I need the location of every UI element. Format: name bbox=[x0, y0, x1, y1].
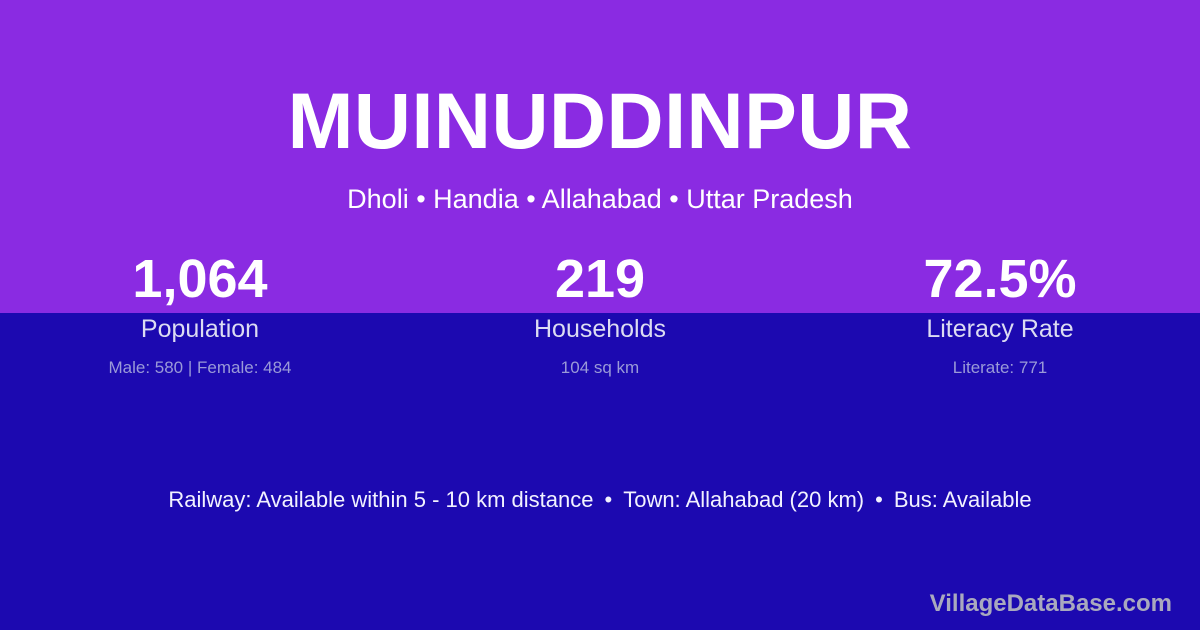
village-info-card: MUINUDDINPUR Dholi • Handia • Allahabad … bbox=[0, 0, 1200, 630]
stat-households-sub: 104 sq km bbox=[400, 356, 800, 380]
amenity-separator-1: • bbox=[594, 486, 624, 515]
amenity-railway: Railway: Available within 5 - 10 km dist… bbox=[168, 487, 593, 512]
amenity-town: Town: Allahabad (20 km) bbox=[623, 487, 864, 512]
page-title: MUINUDDINPUR bbox=[0, 80, 1200, 163]
stat-population-value: 1,064 bbox=[0, 248, 400, 311]
site-brand: VillageDataBase.com bbox=[930, 590, 1172, 619]
stat-literacy-rate-label: Literacy Rate bbox=[800, 313, 1200, 347]
amenity-separator-2: • bbox=[864, 486, 894, 515]
stat-population-label: Population bbox=[0, 313, 400, 347]
stat-households: 219 Households 104 sq km bbox=[400, 248, 800, 380]
stat-households-label: Households bbox=[400, 313, 800, 347]
amenity-bus: Bus: Available bbox=[894, 487, 1032, 512]
stat-literacy-rate: 72.5% Literacy Rate Literate: 771 bbox=[800, 248, 1200, 380]
stat-literacy-rate-value: 72.5% bbox=[800, 248, 1200, 311]
stat-population-sub: Male: 580 | Female: 484 bbox=[0, 356, 400, 380]
stats-row: 1,064 Population Male: 580 | Female: 484… bbox=[0, 248, 1200, 380]
breadcrumb: Dholi • Handia • Allahabad • Uttar Prade… bbox=[0, 183, 1200, 215]
stat-households-value: 219 bbox=[400, 248, 800, 311]
stat-literacy-rate-sub: Literate: 771 bbox=[800, 356, 1200, 380]
amenities-line: Railway: Available within 5 - 10 km dist… bbox=[0, 486, 1200, 515]
stat-population: 1,064 Population Male: 580 | Female: 484 bbox=[0, 248, 400, 380]
